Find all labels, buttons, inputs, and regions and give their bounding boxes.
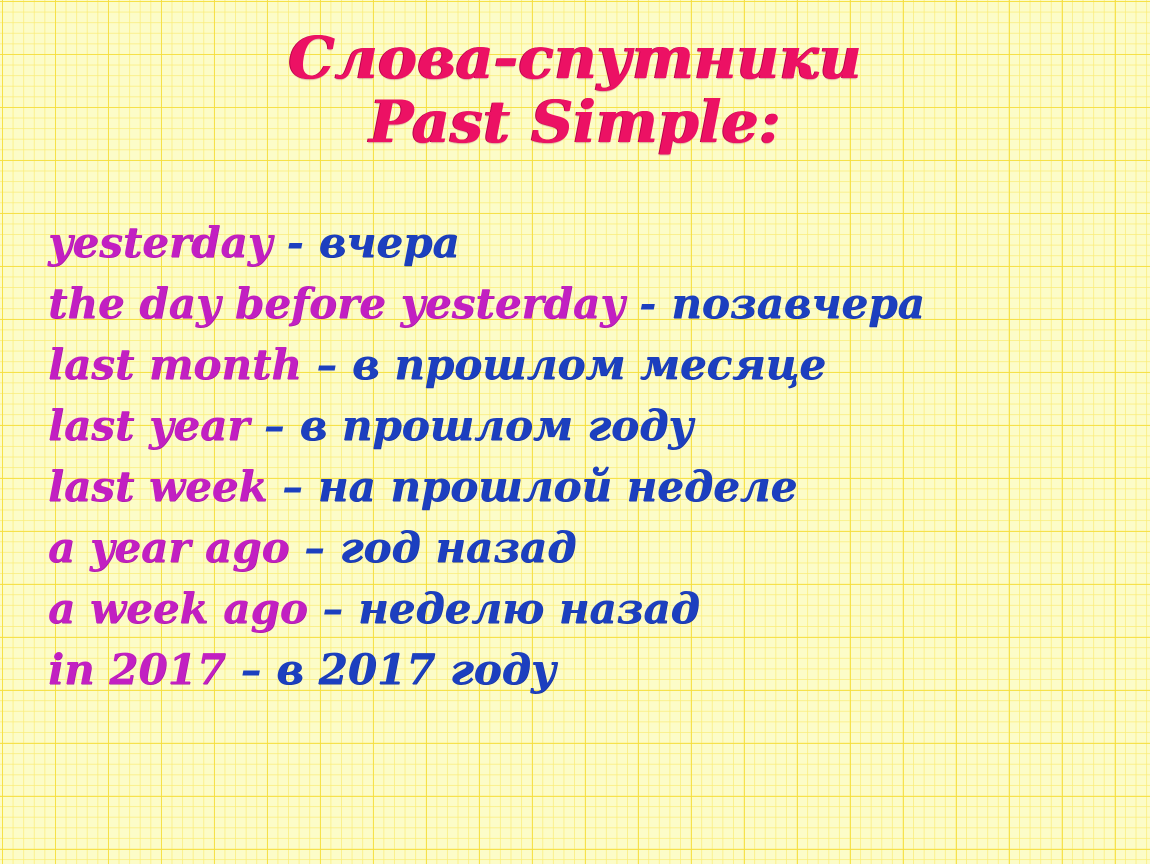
list-item: a week ago – неделю назад — [48, 578, 1128, 639]
russian-translation: в прошлом году — [300, 401, 694, 450]
english-term: in 2017 — [48, 645, 241, 694]
list-item: in 2017 – в 2017 году — [48, 639, 1128, 700]
english-term: last year — [48, 401, 249, 450]
russian-translation: позавчера — [671, 279, 924, 328]
russian-translation: на прошлой неделе — [318, 462, 797, 511]
separator: – — [308, 584, 358, 633]
list-item: last week – на прошлой неделе — [48, 456, 1128, 517]
separator: - — [625, 279, 672, 328]
english-term: last month — [48, 340, 302, 389]
separator: - — [287, 218, 319, 267]
russian-translation: год назад — [340, 523, 577, 572]
title-line-2: Past Simple: — [0, 92, 1150, 152]
english-term: yesterday — [48, 218, 287, 267]
list-item: last month – в прошлом месяце — [48, 334, 1128, 395]
list-item: yesterday - вчера — [48, 212, 1128, 273]
slide-canvas: Слова-спутники Past Simple: yesterday - … — [0, 0, 1150, 864]
russian-translation: в 2017 году — [276, 645, 556, 694]
english-term: last week — [48, 462, 268, 511]
list-item: a year ago – год назад — [48, 517, 1128, 578]
separator: – — [249, 401, 299, 450]
separator: – — [268, 462, 318, 511]
slide-title: Слова-спутники Past Simple: — [0, 28, 1150, 153]
vocabulary-list: yesterday - вчера the day before yesterd… — [48, 212, 1128, 700]
english-term: a year ago — [48, 523, 290, 572]
russian-translation: неделю назад — [358, 584, 700, 633]
title-line-1: Слова-спутники — [0, 28, 1150, 88]
separator: – — [290, 523, 340, 572]
separator: – — [241, 645, 277, 694]
list-item: last year – в прошлом году — [48, 395, 1128, 456]
russian-translation: в прошлом месяце — [352, 340, 826, 389]
separator: – — [302, 340, 352, 389]
english-term: the day before yesterday — [48, 279, 625, 328]
english-term: a week ago — [48, 584, 308, 633]
russian-translation: вчера — [319, 218, 460, 267]
list-item: the day before yesterday - позавчера — [48, 273, 1128, 334]
